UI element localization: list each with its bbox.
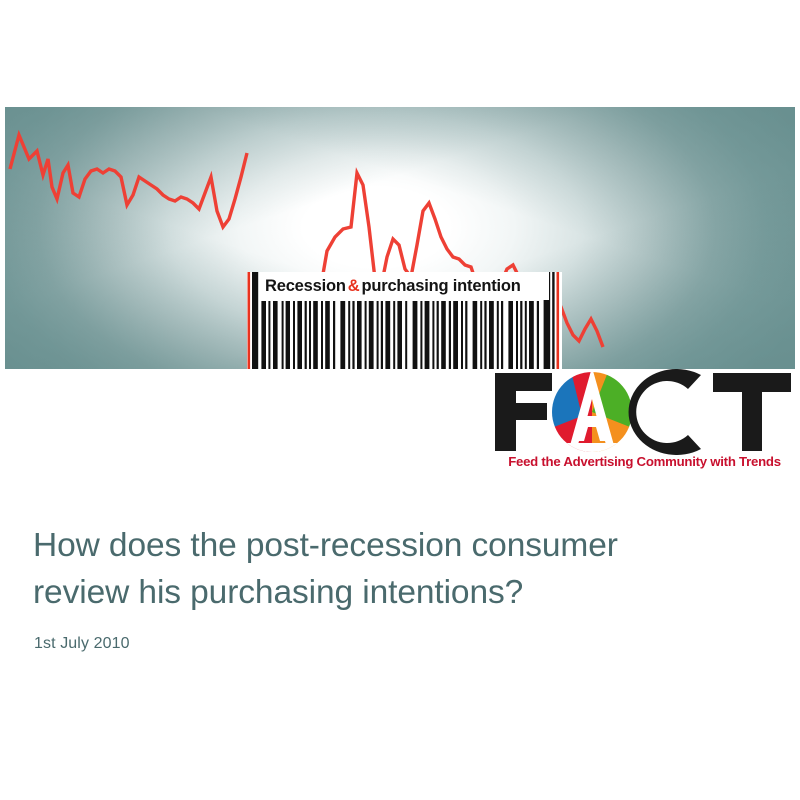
page-title-line-2: review his purchasing intentions? [33, 569, 763, 616]
logo-letter-t [713, 373, 791, 451]
title-block: How does the post-recession consumer rev… [33, 522, 763, 654]
fact-wordmark [492, 369, 795, 455]
page-title-line-1: How does the post-recession consumer [33, 522, 763, 569]
hero-banner: Recession & purchasing intention [5, 107, 795, 369]
fact-tagline: Feed the Advertising Community with Tren… [494, 454, 795, 469]
slide-date: 1st July 2010 [34, 634, 763, 654]
barcode-label-ampersand: & [346, 277, 362, 296]
logo-letter-f [495, 373, 552, 451]
barcode-label-prefix: Recession [265, 277, 346, 296]
trend-line-left [10, 135, 247, 227]
page-title: How does the post-recession consumer rev… [33, 522, 763, 616]
barcode-label-suffix: purchasing intention [361, 277, 520, 296]
logo-letter-a [547, 369, 640, 455]
barcode-label: Recession & purchasing intention [259, 272, 549, 300]
barcode-guard-right [557, 272, 560, 369]
slide-root: Recession & purchasing intention [0, 0, 800, 800]
logo-letter-c [629, 369, 701, 455]
barcode-guard-left [248, 272, 251, 369]
fact-logo: Feed the Advertising Community with Tren… [492, 369, 795, 479]
barcode-graphic: Recession & purchasing intention [247, 272, 562, 369]
